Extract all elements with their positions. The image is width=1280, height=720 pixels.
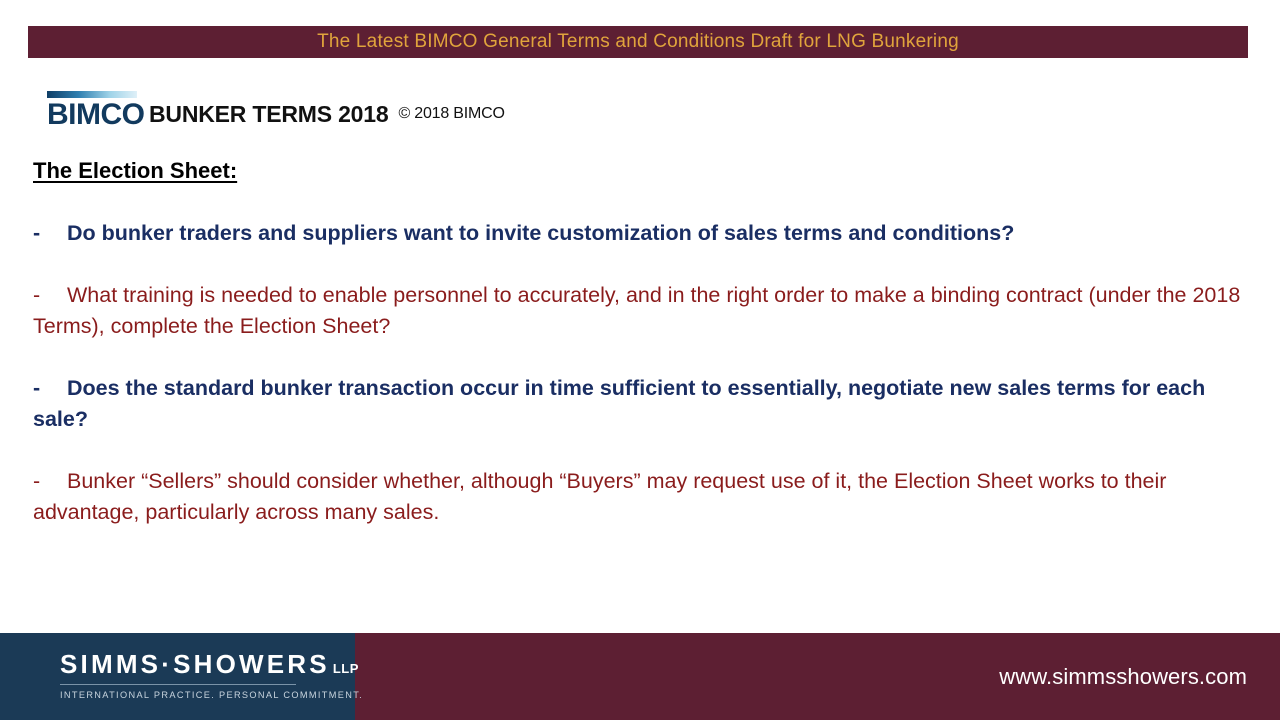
firm-suffix: LLP [333,659,359,679]
logo-divider [60,684,296,685]
firm-tagline: INTERNATIONAL PRACTICE. PERSONAL COMMITM… [60,690,300,700]
bullet-item-4: -Bunker “Sellers” should consider whethe… [33,466,1243,528]
bullet-text-4: Bunker “Sellers” should consider whether… [33,469,1166,524]
bullet-item-1: -Do bunker traders and suppliers want to… [33,218,1243,249]
bunker-terms-title: BUNKER TERMS 2018 [149,99,388,130]
bimco-brand-header: BIMCO BUNKER TERMS 2018 © 2018 BIMCO [47,88,505,130]
simms-showers-logo: SIMMS·SHOWERS LLP INTERNATIONAL PRACTICE… [60,650,300,700]
bullet-marker-1: - [33,218,67,249]
footer-logo-panel: SIMMS·SHOWERS LLP INTERNATIONAL PRACTICE… [0,633,355,720]
firm-name-row: SIMMS·SHOWERS LLP [60,650,300,679]
bullet-text-2: What training is needed to enable person… [33,283,1240,338]
bullet-marker-3: - [33,373,67,404]
footer-url-panel: www.simmsshowers.com [355,633,1280,720]
slide-body: The Election Sheet: -Do bunker traders a… [33,158,1243,559]
website-url[interactable]: www.simmsshowers.com [999,664,1247,690]
bullet-item-2: -What training is needed to enable perso… [33,280,1243,342]
slide-title-banner: The Latest BIMCO General Terms and Condi… [28,26,1248,58]
bullet-marker-4: - [33,466,67,497]
slide-title-text: The Latest BIMCO General Terms and Condi… [317,31,959,53]
bullet-marker-2: - [33,280,67,311]
copyright-notice: © 2018 BIMCO [398,100,504,130]
bimco-gradient-bar-icon [47,91,137,98]
page-title: The Election Sheet: [33,158,237,184]
bullet-item-3: -Does the standard bunker transaction oc… [33,373,1243,435]
firm-name: SIMMS·SHOWERS [60,650,330,678]
bimco-logo-text: BIMCO [47,100,139,130]
bullet-text-1: Do bunker traders and suppliers want to … [67,221,1014,245]
bimco-logo: BIMCO [47,88,139,130]
bullet-text-3: Does the standard bunker transaction occ… [33,376,1205,431]
slide-footer: SIMMS·SHOWERS LLP INTERNATIONAL PRACTICE… [0,633,1280,720]
